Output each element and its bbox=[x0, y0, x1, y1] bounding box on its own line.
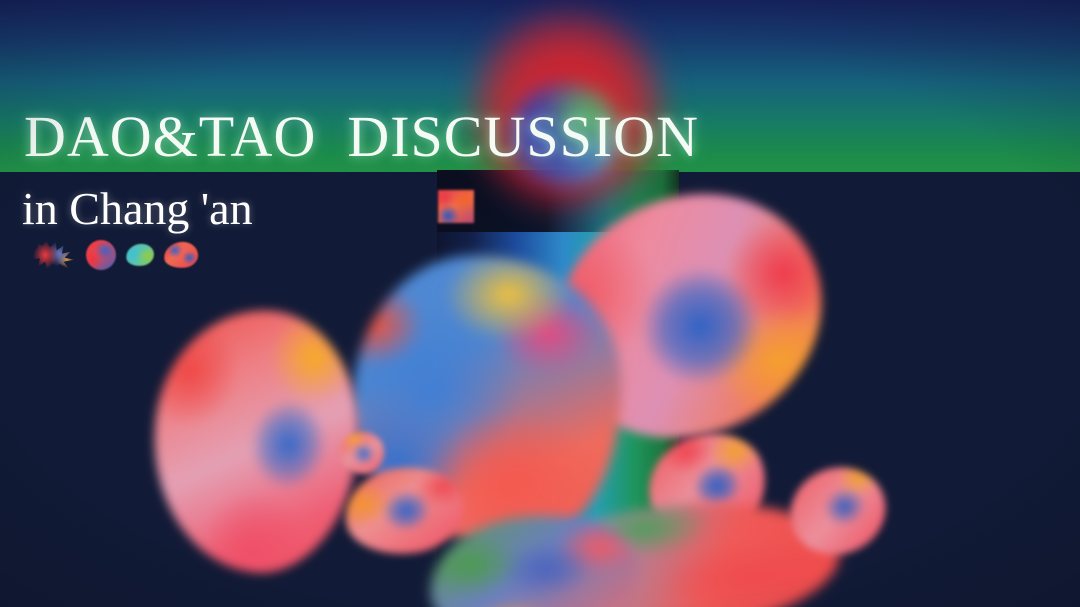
blob-left bbox=[154, 310, 358, 572]
blob-bottom-green-skin bbox=[425, 507, 646, 607]
star-burst-icon bbox=[32, 238, 76, 272]
blob-left-skin bbox=[141, 300, 371, 582]
teal-blob-icon bbox=[124, 242, 155, 269]
blob-bottom-right bbox=[790, 468, 886, 554]
heart-blob-icon bbox=[163, 240, 200, 269]
decorative-icon-row bbox=[32, 238, 198, 272]
blob-bottom-right-skin bbox=[778, 454, 898, 568]
blob-bottom-green bbox=[430, 516, 640, 607]
circle-icon bbox=[86, 240, 116, 270]
page-title: DAO&TAO DISCUSSION bbox=[24, 108, 699, 166]
page-subtitle: in Chang 'an bbox=[22, 186, 253, 232]
poster-canvas: DAO&TAO DISCUSSION in Chang 'an bbox=[0, 0, 1080, 607]
gradient-square-tile bbox=[438, 190, 474, 223]
